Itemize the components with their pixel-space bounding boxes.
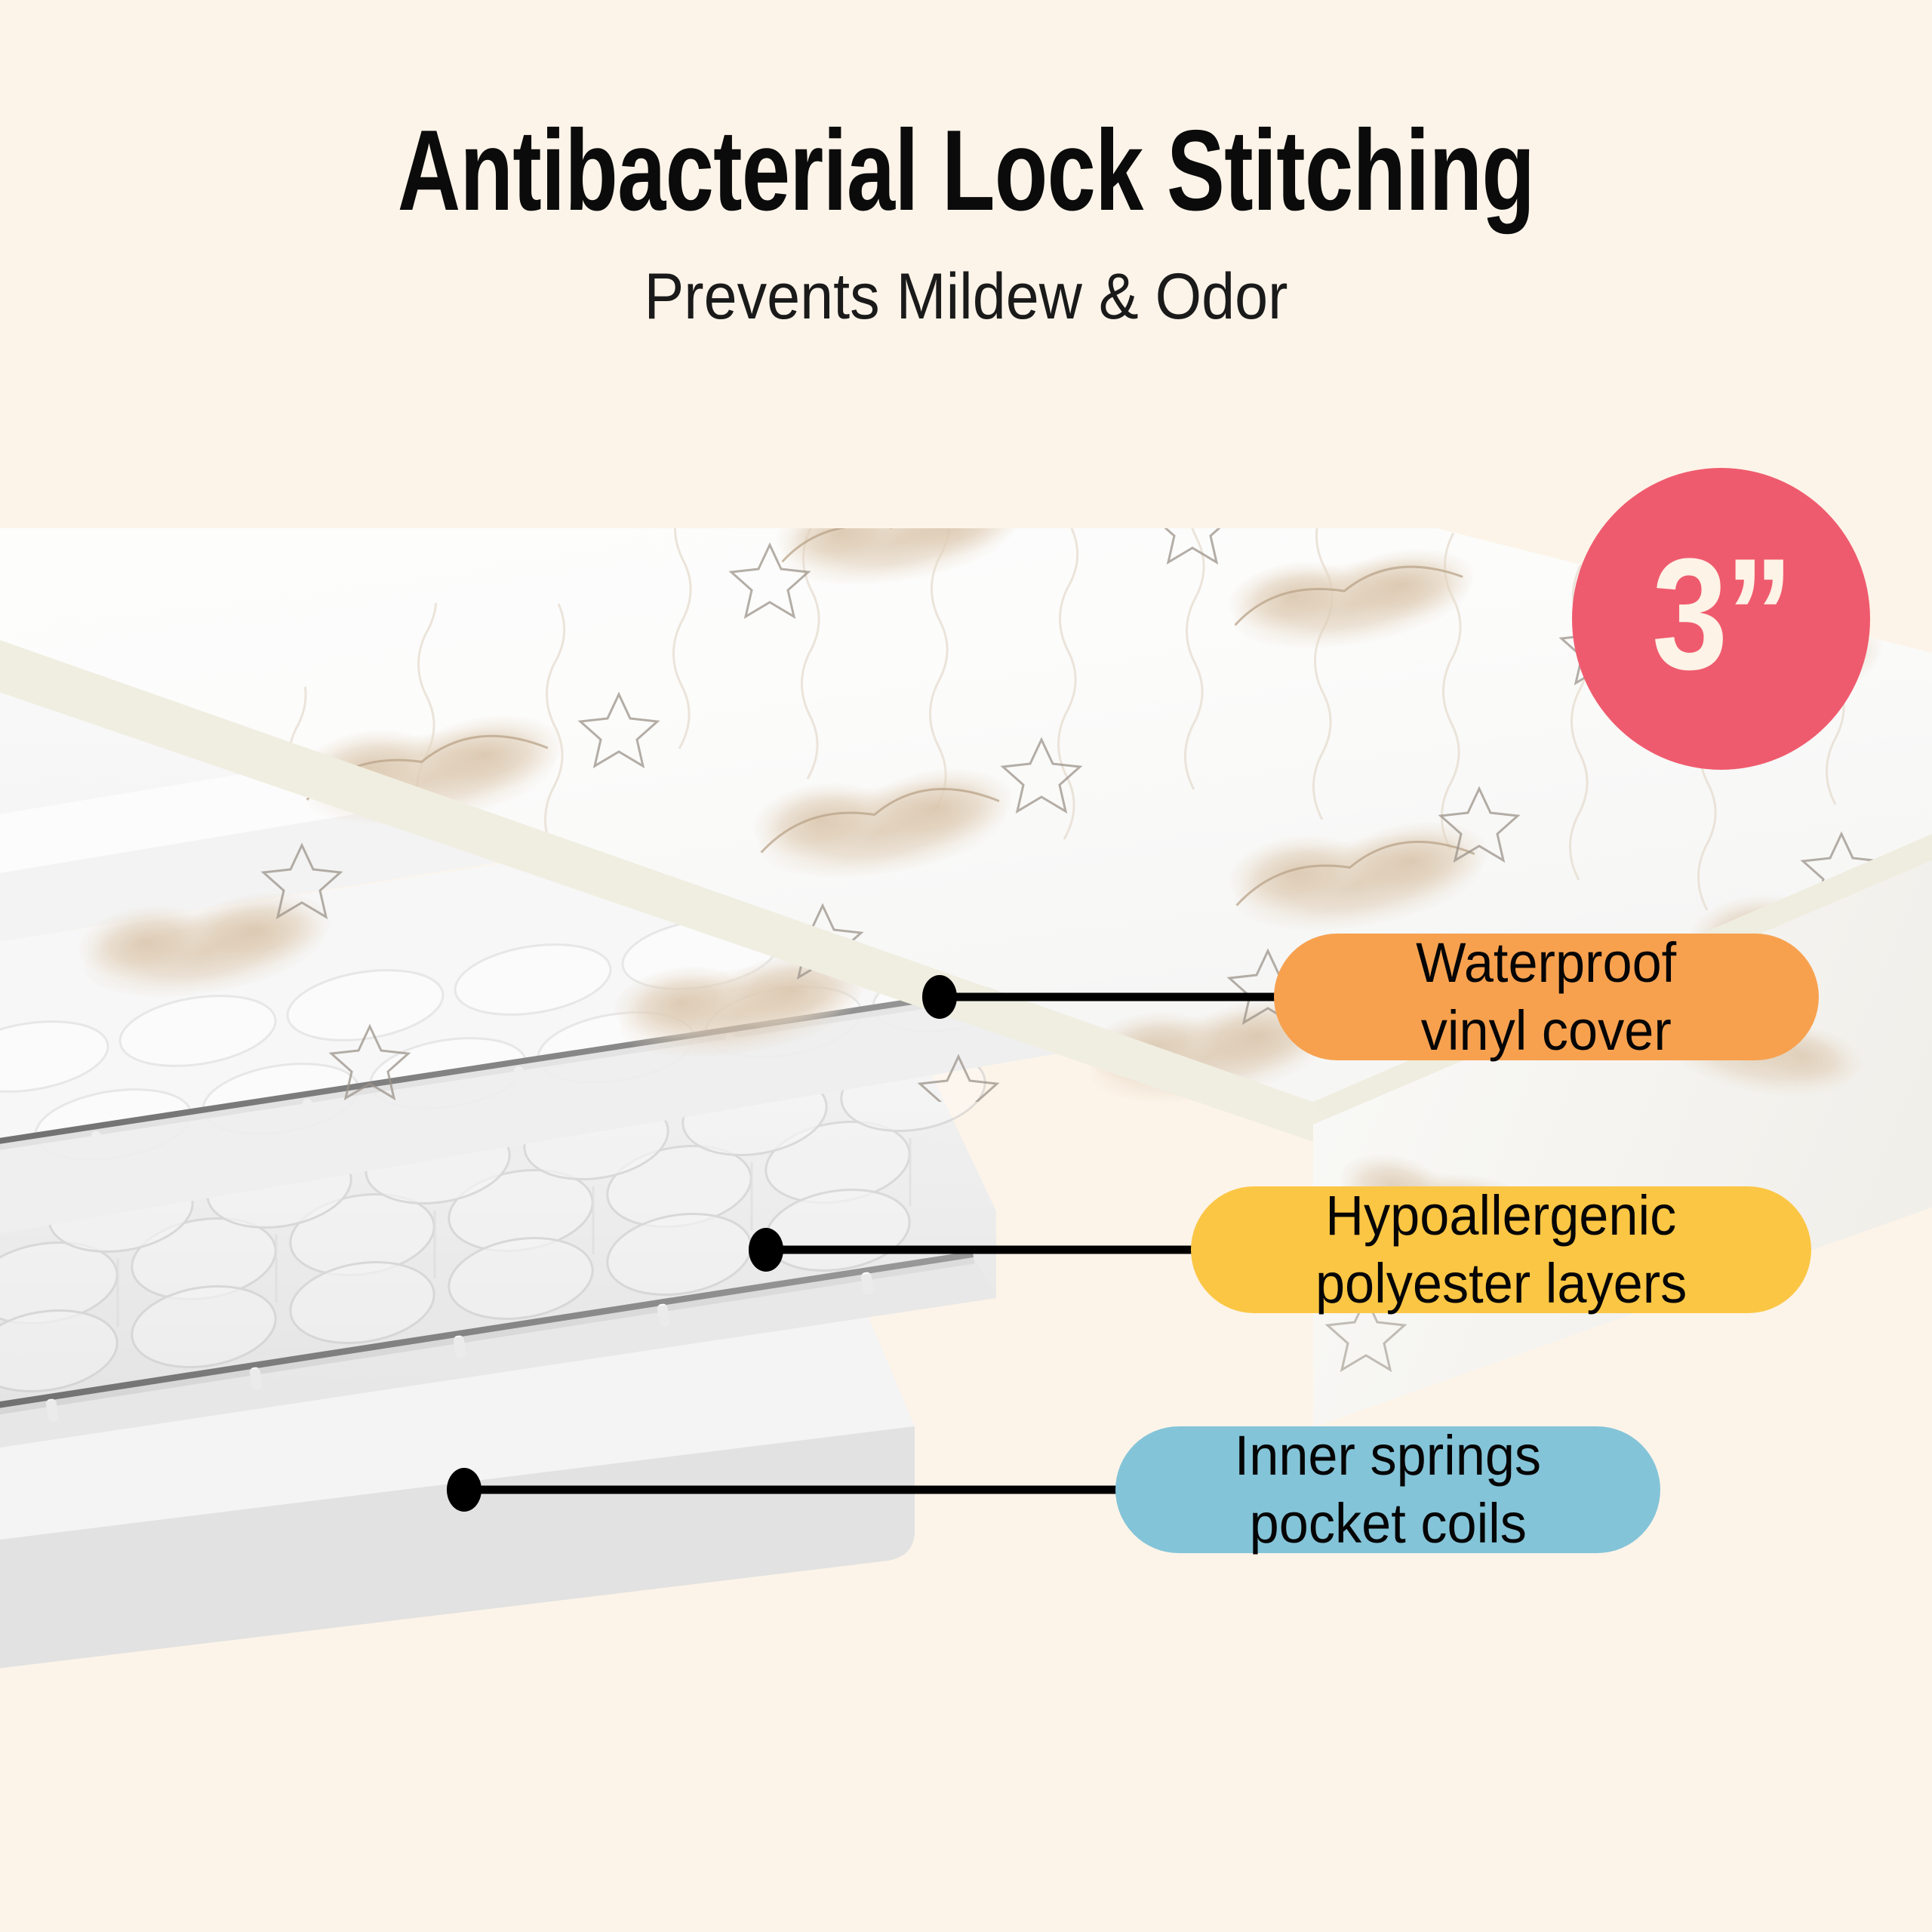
leader-bar-innersprings: [468, 1486, 1156, 1494]
callout-innersprings: Inner springs pocket coils: [1115, 1426, 1660, 1553]
callout-waterproof-line1: Waterproof: [1416, 929, 1676, 997]
callout-waterproof-line2: vinyl cover: [1421, 997, 1672, 1065]
callout-hypoallergenic-line2: polyester layers: [1315, 1250, 1687, 1318]
leader-line-innersprings: [447, 1468, 1156, 1512]
header-block: Antibacterial Lock Stitching Prevents Mi…: [0, 113, 1932, 331]
callout-waterproof: Waterproof vinyl cover: [1274, 934, 1819, 1060]
thickness-badge-value: 3”: [1652, 535, 1791, 694]
callout-innersprings-line2: pocket coils: [1249, 1490, 1526, 1558]
leader-line-hypoallergenic: [749, 1228, 1232, 1272]
callout-innersprings-line1: Inner springs: [1235, 1422, 1541, 1490]
infographic-canvas: Antibacterial Lock Stitching Prevents Mi…: [0, 0, 1932, 1932]
thickness-badge: 3”: [1572, 468, 1870, 770]
callout-hypoallergenic: Hypoallergenic polyester layers: [1191, 1186, 1811, 1313]
leader-bar-waterproof: [943, 993, 1315, 1001]
leader-bar-hypoallergenic: [770, 1246, 1232, 1254]
leader-line-waterproof: [922, 975, 1315, 1019]
page-title: Antibacterial Lock Stitching: [232, 113, 1700, 228]
callout-hypoallergenic-line1: Hypoallergenic: [1325, 1182, 1676, 1250]
page-subtitle: Prevents Mildew & Odor: [77, 263, 1854, 331]
